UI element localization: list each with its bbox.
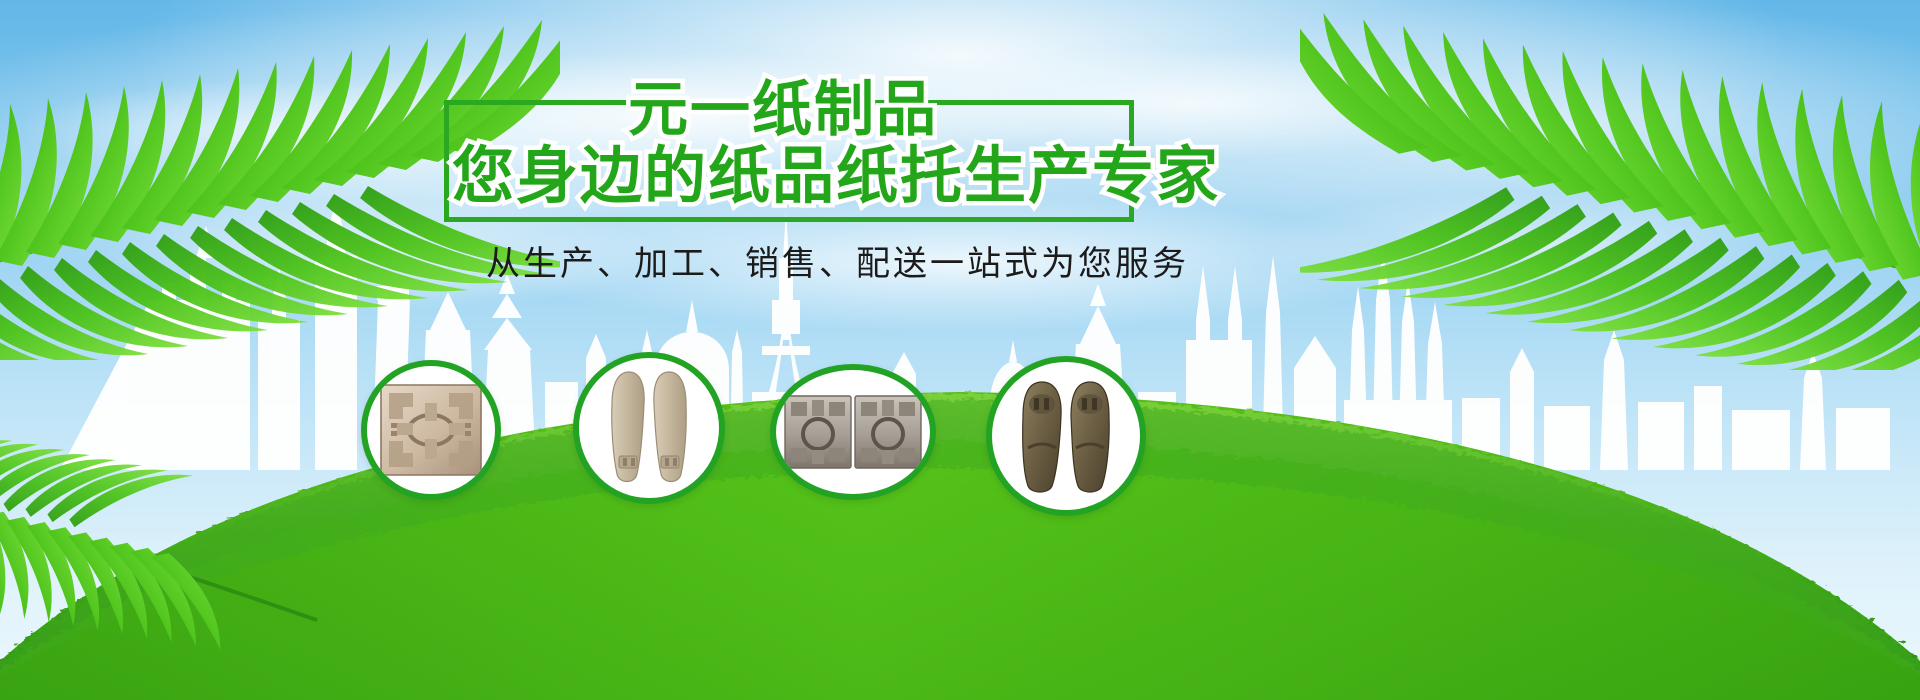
product-circle-3[interactable] [770,364,936,500]
promotional-banner: 元一纸制品 您身边的纸品纸托生产专家 从生产、加工、销售、配送一站式为您服务 [0,0,1920,700]
molded-pulp-tray-square-icon [379,383,483,477]
bush-row [0,280,1920,700]
product-circle-4[interactable] [986,356,1146,516]
product-circle-1[interactable] [361,360,501,500]
product-circle-2[interactable] [573,352,725,504]
subtitle-text: 从生产、加工、销售、配送一站式为您服务 [486,236,1189,285]
headline-line-1: 元一纸制品 [628,77,938,143]
molded-pulp-shoe-trees-icon [1010,376,1122,496]
molded-pulp-packaging-pair-icon [783,392,923,472]
headline-line-2: 您身边的纸品纸托生产专家 [452,141,1220,211]
molded-pulp-shoe-inserts-icon [595,364,703,492]
